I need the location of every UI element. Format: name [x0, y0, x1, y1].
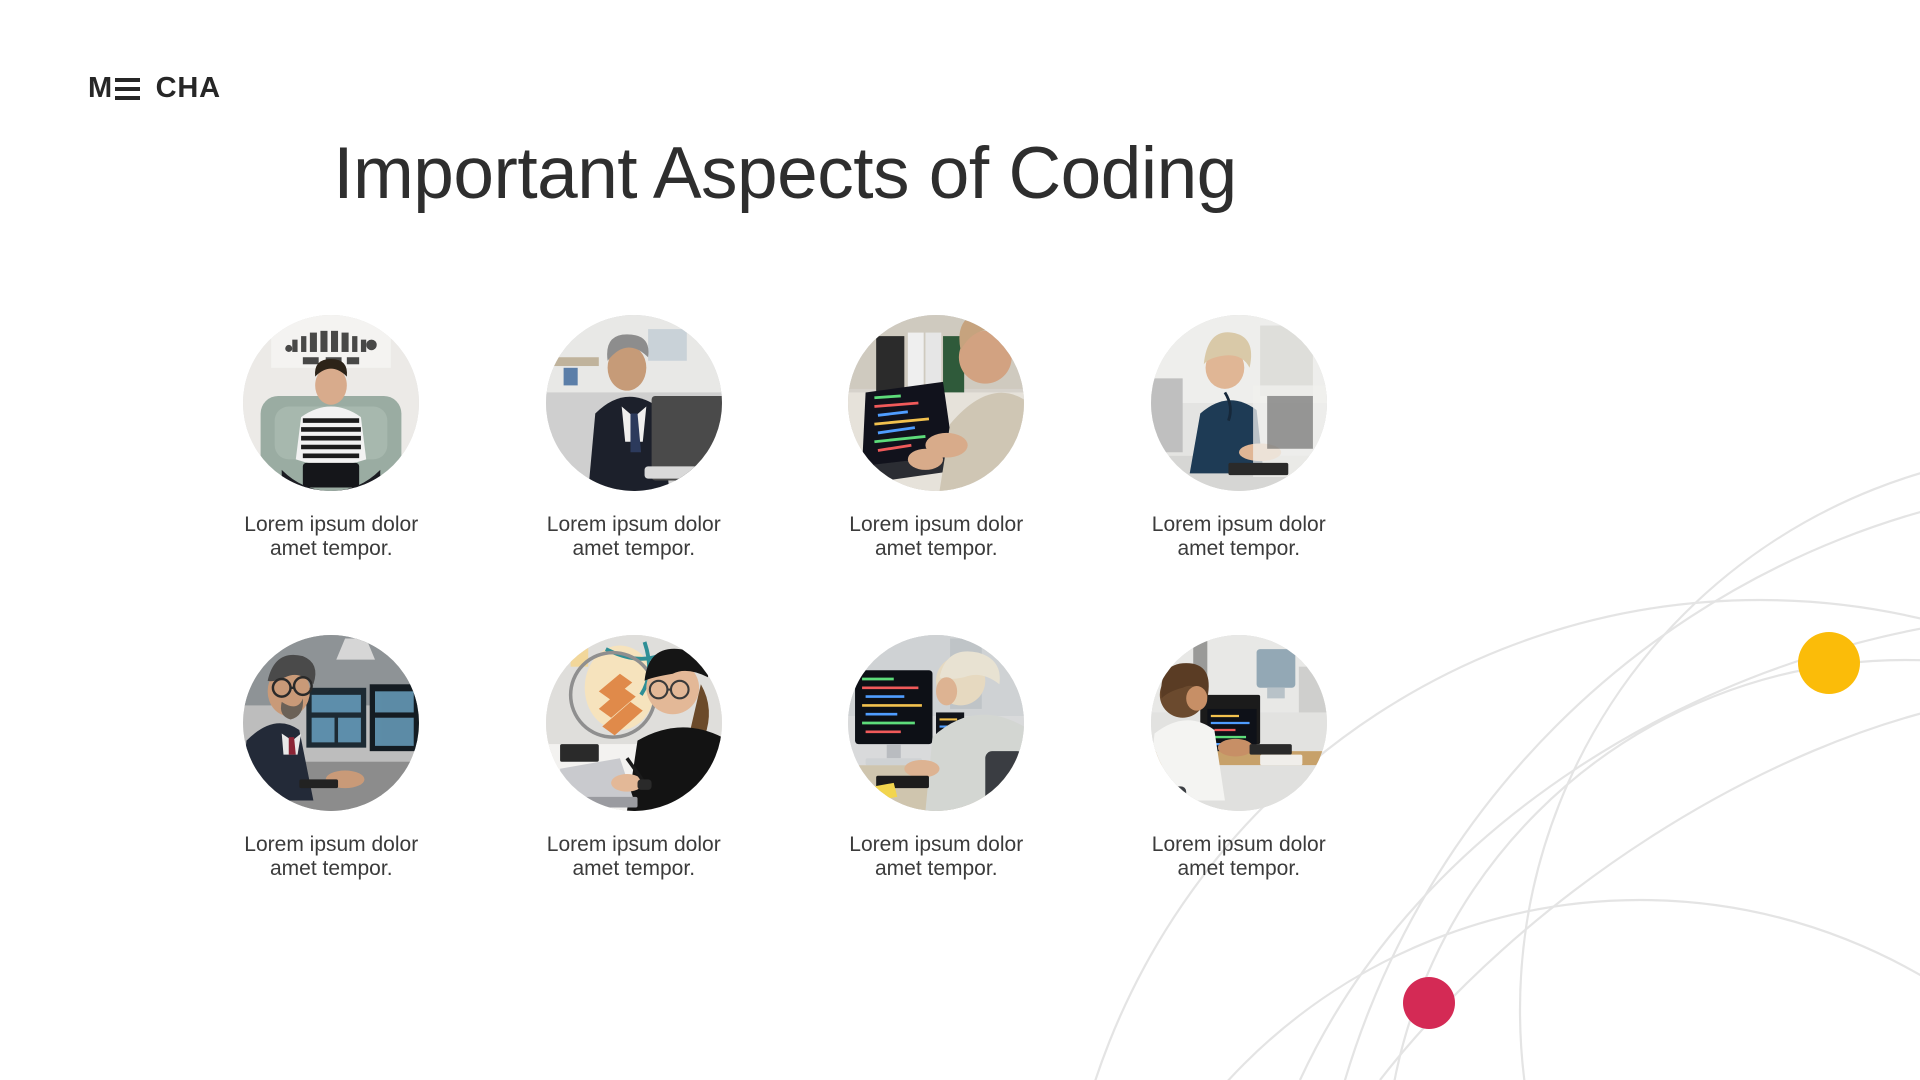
photo-businessman-in-suit-at-monitor: [546, 315, 722, 491]
grid-item-caption: Lorem ipsum dolor amet tempor.: [244, 833, 418, 880]
brand-logo[interactable]: M CHA: [88, 74, 221, 103]
grid-item[interactable]: Lorem ipsum dolor amet tempor.: [180, 315, 483, 560]
grid-item[interactable]: Lorem ipsum dolor amet tempor.: [1088, 635, 1391, 880]
photo-woman-in-navy-shirt-at-workstation: [1151, 315, 1327, 491]
logo-letters-cha: CHA: [156, 74, 221, 103]
photo-developer-in-beige-sweater-coding-on-laptop: [848, 315, 1024, 491]
photo-woman-at-office-desk-with-laptop-code: [1151, 635, 1327, 811]
photo-man-on-beanbag-with-laptop: [243, 315, 419, 491]
grid-item-caption: Lorem ipsum dolor amet tempor.: [547, 833, 721, 880]
grid-item[interactable]: Lorem ipsum dolor amet tempor.: [1088, 315, 1391, 560]
grid-item-caption: Lorem ipsum dolor amet tempor.: [849, 833, 1023, 880]
aspects-grid: Lorem ipsum dolor amet tempor. Lorem ips…: [180, 315, 1390, 880]
grid-item[interactable]: Lorem ipsum dolor amet tempor.: [483, 315, 786, 560]
logo-letter-m: M: [88, 74, 113, 103]
grid-item[interactable]: Lorem ipsum dolor amet tempor.: [785, 315, 1088, 560]
grid-item-caption: Lorem ipsum dolor amet tempor.: [1152, 833, 1326, 880]
grid-item[interactable]: Lorem ipsum dolor amet tempor.: [785, 635, 1088, 880]
photo-person-in-black-beanie-with-laptop-and-mural: [546, 635, 722, 811]
grid-item-caption: Lorem ipsum dolor amet tempor.: [849, 513, 1023, 560]
grid-item-caption: Lorem ipsum dolor amet tempor.: [1152, 513, 1326, 560]
logo-hamburger-e-icon: [115, 77, 140, 100]
grid-item-caption: Lorem ipsum dolor amet tempor.: [547, 513, 721, 560]
grid-item[interactable]: Lorem ipsum dolor amet tempor.: [483, 635, 786, 880]
page-title: Important Aspects of Coding: [0, 132, 1570, 215]
photo-bearded-man-with-glasses-at-dual-monitors: [243, 635, 419, 811]
grid-item-caption: Lorem ipsum dolor amet tempor.: [244, 513, 418, 560]
grid-item[interactable]: Lorem ipsum dolor amet tempor.: [180, 635, 483, 880]
yellow-circle-decoration: [1798, 632, 1860, 694]
photo-blonde-developer-at-desktop-with-code: [848, 635, 1024, 811]
crimson-circle-decoration: [1403, 977, 1455, 1029]
